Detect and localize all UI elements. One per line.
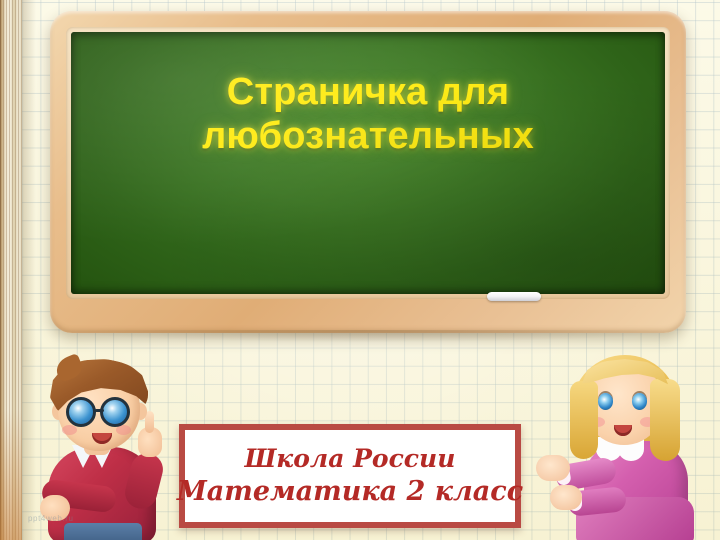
chalkboard-surface: Страничка для любознательных (71, 32, 665, 294)
cartoon-girl (540, 337, 710, 540)
slide-canvas: Страничка для любознательных (0, 0, 720, 540)
girl-eye-right (632, 393, 647, 410)
slide-title: Страничка для любознательных (71, 70, 665, 159)
boy-cheek-left (62, 425, 77, 435)
girl-eye-left (598, 393, 613, 410)
girl-hair-side-right (650, 379, 680, 461)
chalk-stick-icon (487, 292, 541, 301)
boy-glasses-bridge (95, 409, 104, 412)
boy-glasses-lens-left (66, 397, 96, 427)
binding-warm-glow (0, 410, 22, 540)
boy-trousers (64, 523, 142, 540)
girl-lower-hand (550, 485, 582, 510)
girl-hair-side-left (570, 381, 598, 459)
cartoon-boy (24, 345, 196, 540)
course-sign: Школа России Математика 2 класс (179, 424, 521, 528)
sign-line-subject: Математика 2 класс (177, 478, 523, 506)
girl-upper-hand (536, 455, 570, 481)
chalkboard: Страничка для любознательных (50, 11, 686, 333)
boy-glasses-lens-right (100, 397, 130, 427)
sign-line-program: Школа России (245, 446, 456, 472)
watermark: ppt4web.ru (28, 514, 74, 523)
